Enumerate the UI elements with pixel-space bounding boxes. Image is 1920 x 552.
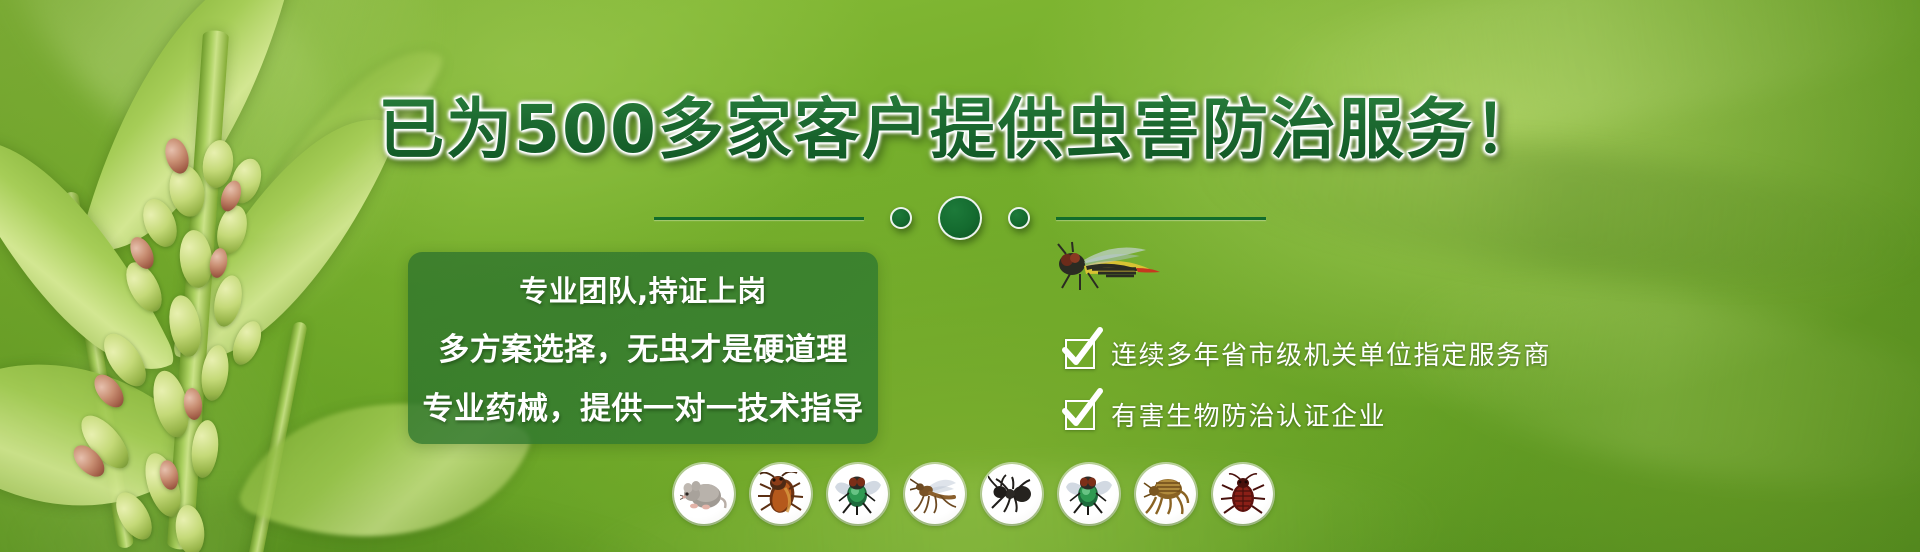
panel-line-3: 专业药械，提供一对一技术指导 <box>423 383 864 428</box>
fly-icon-2[interactable] <box>1059 464 1119 524</box>
decor-dot-small <box>1008 207 1030 229</box>
promo-banner: 已为500多家客户提供虫害防治服务！ 专业团队,持证上岗 多方案选择，无虫才是硬… <box>0 0 1920 552</box>
list-item: 有害生物防治认证企业 <box>1065 396 1551 433</box>
selling-points-panel: 专业团队,持证上岗 多方案选择，无虫才是硬道理 专业药械，提供一对一技术指导 <box>408 252 878 444</box>
checkmark-icon <box>1065 400 1095 430</box>
list-item-label: 连续多年省市级机关单位指定服务商 <box>1111 335 1551 372</box>
panel-line-1: 专业团队,持证上岗 <box>519 268 767 310</box>
list-item: 连续多年省市级机关单位指定服务商 <box>1065 335 1551 372</box>
divider-line-right <box>1056 217 1266 220</box>
mosquito-icon[interactable] <box>905 464 965 524</box>
pest-icon-row <box>674 464 1273 524</box>
decor-dot-small <box>890 207 912 229</box>
divider-line-left <box>654 217 864 220</box>
decorative-divider <box>0 196 1920 240</box>
panel-line-2: 多方案选择，无虫才是硬道理 <box>438 324 848 369</box>
list-item-label: 有害生物防治认证企业 <box>1111 396 1386 433</box>
bedbug-icon[interactable] <box>1213 464 1273 524</box>
checkmark-icon <box>1065 339 1095 369</box>
flea-icon[interactable] <box>1136 464 1196 524</box>
certification-list: 连续多年省市级机关单位指定服务商 有害生物防治认证企业 <box>1065 335 1551 433</box>
ant-icon[interactable] <box>982 464 1042 524</box>
banner-headline: 已为500多家客户提供虫害防治服务！ <box>0 76 1920 172</box>
cockroach-icon[interactable] <box>751 464 811 524</box>
hoverfly-icon <box>1040 240 1180 310</box>
headline-text: 已为500多家客户提供虫害防治服务！ <box>378 76 1542 172</box>
fly-icon[interactable] <box>828 464 888 524</box>
rodent-icon[interactable] <box>674 464 734 524</box>
decor-dot-large <box>938 196 982 240</box>
